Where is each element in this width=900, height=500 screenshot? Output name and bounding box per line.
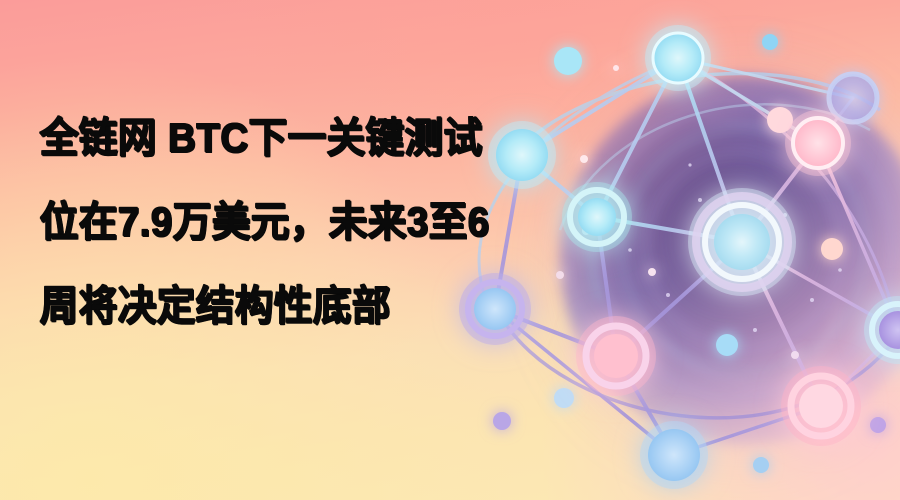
node-pink-bottom-right xyxy=(781,366,861,446)
news-banner: 全链网 BTC下一关键测试 位在7.9万美元，未来3至6 周将决定结构性底部 xyxy=(0,0,900,500)
node-bottom xyxy=(640,421,708,489)
headline-line-3: 周将决定结构性底部 xyxy=(40,264,529,348)
headline-line-1: 全链网 BTC下一关键测试 xyxy=(40,96,529,180)
node-top xyxy=(645,25,711,91)
node-mid-left xyxy=(562,182,632,252)
node-pink-right xyxy=(785,110,851,176)
headline: 全链网 BTC下一关键测试 位在7.9万美元，未来3至6 周将决定结构性底部 xyxy=(40,96,560,348)
node-upper-right xyxy=(829,74,877,122)
node-pink-low xyxy=(576,316,656,396)
node-right-edge xyxy=(864,296,900,364)
headline-line-2: 位在7.9万美元，未来3至6 xyxy=(40,180,529,264)
node-hub xyxy=(688,188,796,296)
